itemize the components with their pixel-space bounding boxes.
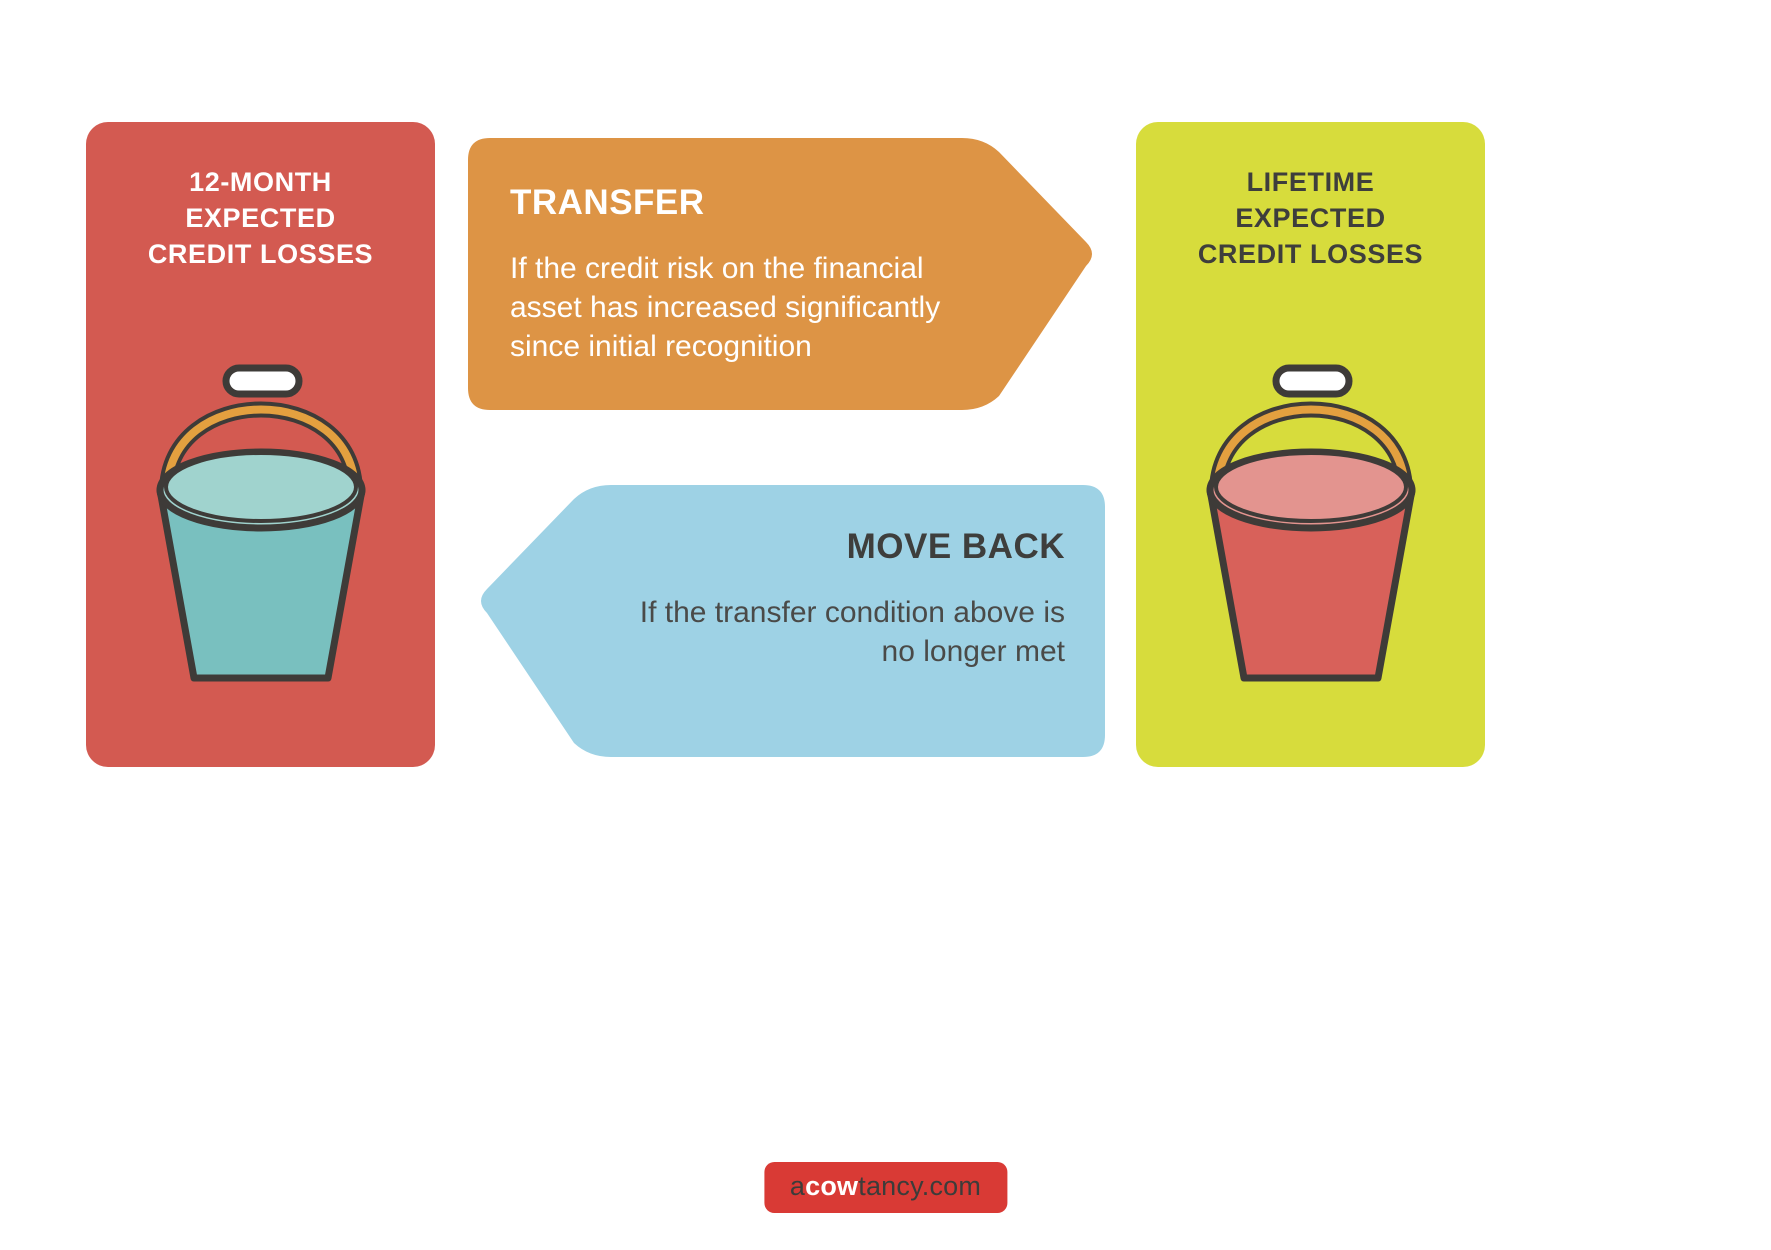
right-panel-heading: LIFETIME EXPECTED CREDIT LOSSES <box>1136 164 1485 272</box>
move-back-title: MOVE BACK <box>630 527 1065 567</box>
panel-lifetime-expected-credit-losses: LIFETIME EXPECTED CREDIT LOSSES <box>1136 122 1485 767</box>
right-panel-heading-line-2: EXPECTED <box>1136 200 1485 236</box>
right-panel-heading-line-3: CREDIT LOSSES <box>1136 236 1485 272</box>
move-back-arrow-content: MOVE BACK If the transfer condition abov… <box>480 485 1105 671</box>
acowtancy-logo[interactable]: acowtancy.com <box>764 1162 1007 1213</box>
bucket-teal-icon <box>131 302 391 702</box>
logo-text-tancy: tancy.com <box>858 1171 981 1201</box>
right-panel-heading-line-1: LIFETIME <box>1136 164 1485 200</box>
left-panel-heading: 12-MONTH EXPECTED CREDIT LOSSES <box>86 164 435 272</box>
logo-text-cow: cow <box>805 1171 858 1201</box>
transfer-body: If the credit risk on the financial asse… <box>510 249 948 366</box>
transfer-arrow-content: TRANSFER If the credit risk on the finan… <box>468 138 1098 366</box>
diagram-canvas: 12-MONTH EXPECTED CREDIT LOSSES <box>0 0 1771 1250</box>
left-panel-heading-line-3: CREDIT LOSSES <box>86 236 435 272</box>
transfer-title: TRANSFER <box>510 183 948 223</box>
move-back-body: If the transfer condition above is no lo… <box>630 593 1065 671</box>
left-panel-heading-line-2: EXPECTED <box>86 200 435 236</box>
left-bucket-holder <box>86 302 435 722</box>
transfer-arrow-callout: TRANSFER If the credit risk on the finan… <box>468 138 1098 410</box>
left-panel-heading-line-1: 12-MONTH <box>86 164 435 200</box>
panel-12-month-expected-credit-losses: 12-MONTH EXPECTED CREDIT LOSSES <box>86 122 435 767</box>
right-bucket-holder <box>1136 302 1485 722</box>
bucket-red-icon <box>1181 302 1441 702</box>
logo-text-a: a <box>790 1171 805 1201</box>
move-back-arrow-callout: MOVE BACK If the transfer condition abov… <box>480 485 1105 757</box>
